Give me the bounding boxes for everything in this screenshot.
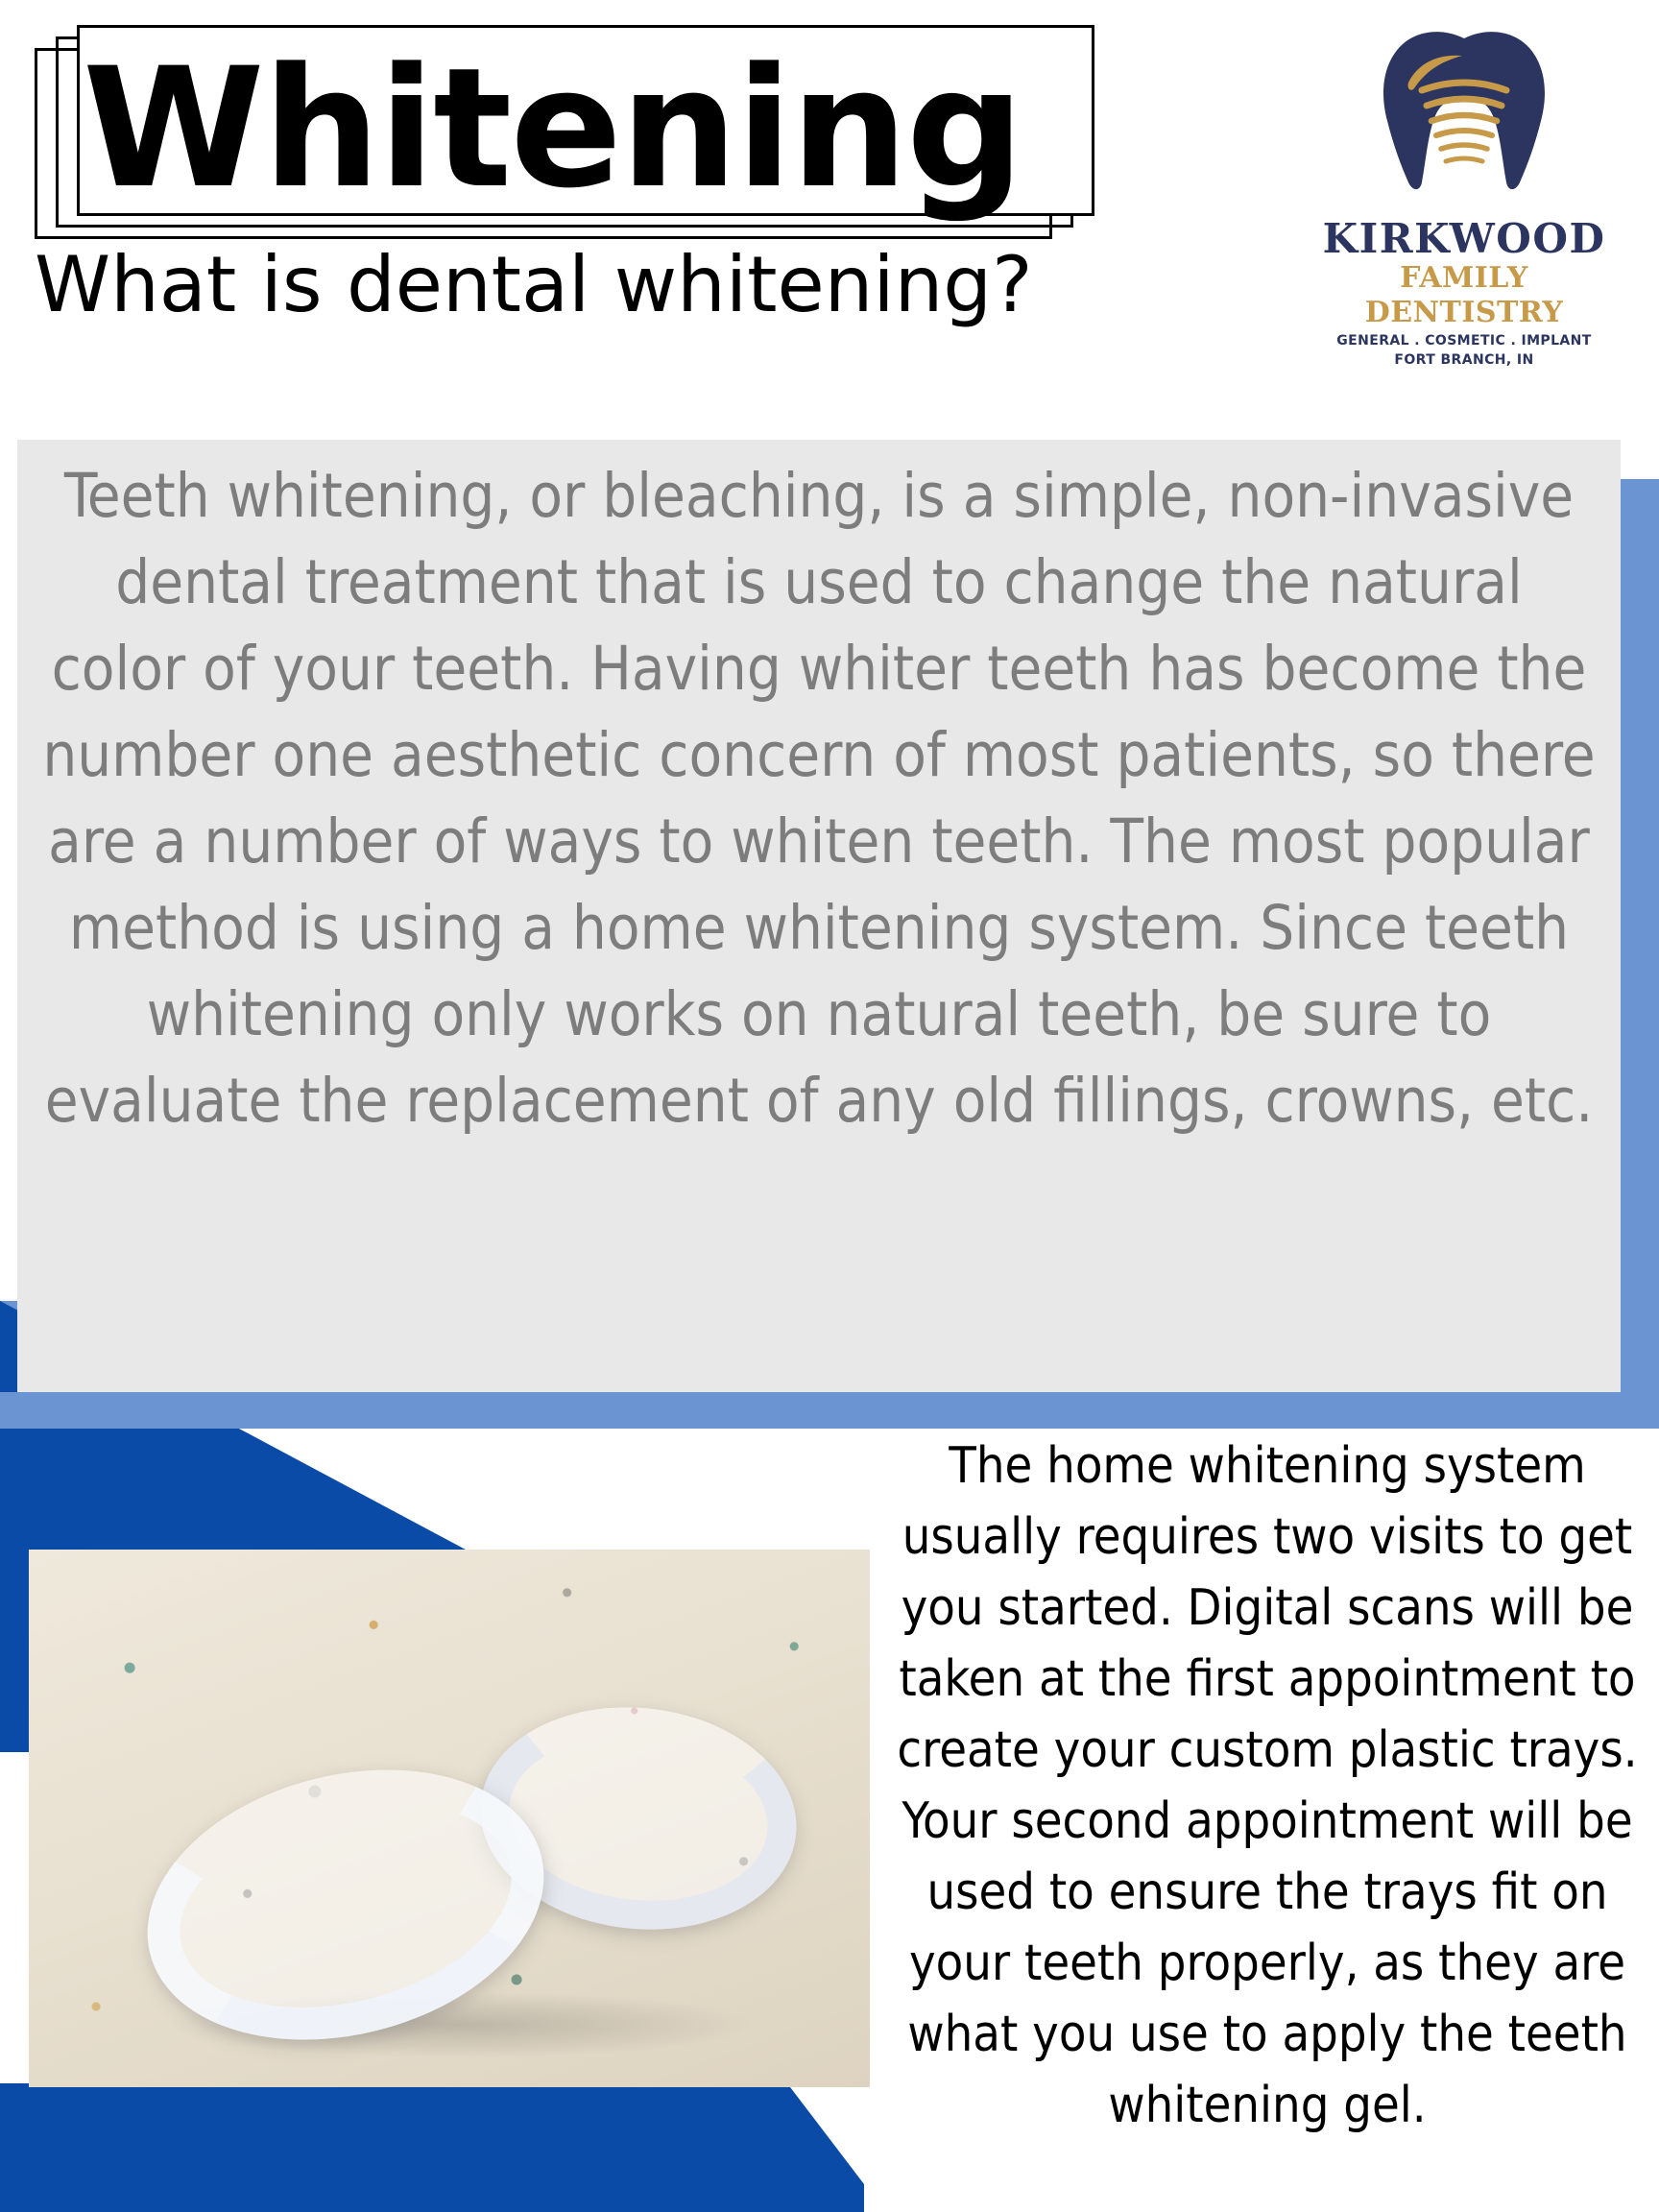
light-blue-horizontal-bar [0, 1392, 1659, 1429]
logo-name: KIRKWOOD [1301, 217, 1627, 261]
light-blue-vertical-bar [1621, 479, 1659, 1429]
right-column-paragraph: The home whitening system usually requir… [893, 1431, 1659, 2141]
tooth-implant-icon [1301, 21, 1627, 213]
brand-logo: KIRKWOOD FAMILY DENTISTRY GENERAL . COSM… [1301, 21, 1627, 338]
main-paragraph: Teeth whitening, or bleaching, is a simp… [42, 453, 1596, 1144]
whitening-trays-photo [29, 1550, 870, 2087]
logo-tagline: FAMILY DENTISTRY [1301, 261, 1627, 330]
page-title: Whitening [83, 33, 1062, 225]
dark-blue-bottom-shape [0, 2083, 864, 2212]
logo-location: FORT BRANCH, IN [1301, 352, 1627, 369]
main-body-box: Teeth whitening, or bleaching, is a simp… [17, 440, 1621, 1392]
logo-services: GENERAL . COSMETIC . IMPLANT [1301, 333, 1627, 349]
page-subtitle: What is dental whitening? [35, 240, 1283, 330]
title-block: Whitening [35, 25, 1106, 231]
